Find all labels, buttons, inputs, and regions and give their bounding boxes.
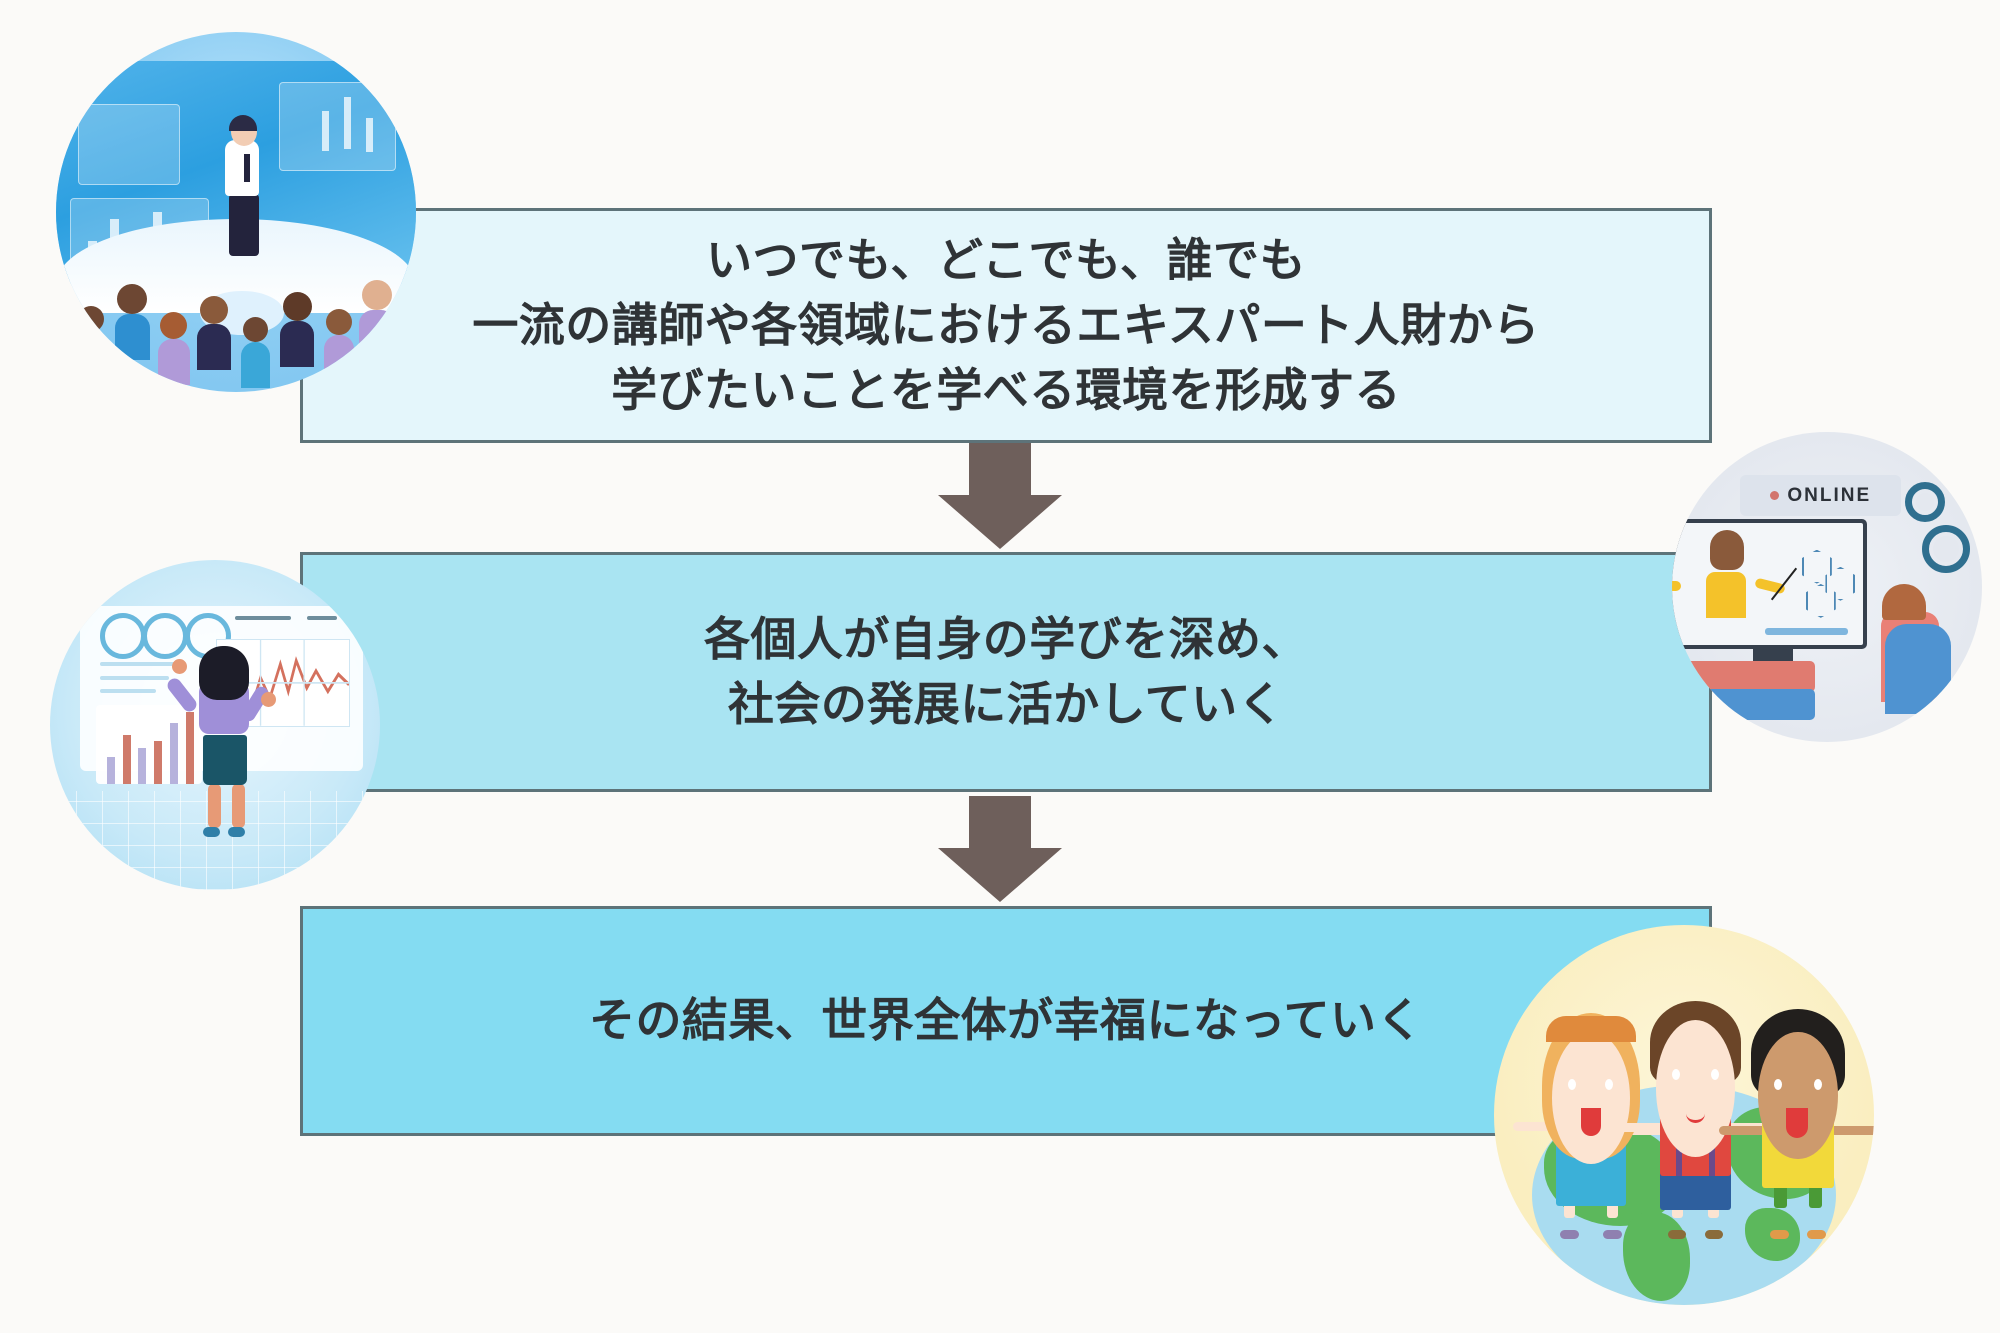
arrow-shaft [969, 796, 1031, 848]
audience-head [117, 284, 147, 314]
arrow-head [938, 848, 1062, 902]
lecture-panel-right [279, 82, 396, 170]
arrow-head [938, 495, 1062, 549]
audience-member [160, 312, 187, 385]
student-body [1885, 624, 1951, 714]
speaker-legs [229, 194, 259, 256]
audience-head [243, 317, 268, 342]
teacher-body [1706, 572, 1746, 618]
child-mouth [1581, 1108, 1602, 1136]
child-shoe [1668, 1230, 1686, 1239]
dashboard-bar [154, 741, 162, 785]
teacher-arm-left [1672, 581, 1681, 591]
dashboard-woman-shoe [228, 827, 245, 837]
child-shoe [1560, 1230, 1579, 1239]
audience-head [200, 296, 228, 324]
monitor-stand [1753, 649, 1793, 661]
dashboard-bar [186, 712, 194, 785]
gear-icon-large [1922, 525, 1970, 573]
audience-head [283, 292, 312, 321]
dashboard-text-line [235, 616, 291, 620]
audience-head [362, 280, 392, 310]
child-arm [1830, 1126, 1874, 1135]
child-eye [1814, 1079, 1822, 1090]
dashboard-woman-hand-left [172, 659, 187, 674]
audience-body [75, 332, 106, 378]
child-shoe [1705, 1230, 1723, 1239]
book-stack-blue [1672, 689, 1815, 720]
audience-member [326, 309, 352, 381]
dashboard-text-line [100, 662, 183, 666]
lecture-panel-left [78, 104, 181, 185]
lecturer-presenting-illustration [56, 32, 416, 392]
audience-member [78, 306, 104, 378]
audience-body [158, 339, 190, 385]
child-mouth [1786, 1108, 1808, 1139]
dashboard-woman-leg [208, 784, 221, 828]
child-head [1656, 1020, 1735, 1156]
dashboard-text-line [100, 689, 156, 693]
dashboard-bar-chart [96, 705, 202, 784]
audience-member [362, 280, 392, 356]
dashboard-bar [107, 757, 115, 784]
children-on-globe-illustration [1494, 925, 1874, 1305]
child-headband [1546, 1016, 1636, 1042]
child-arm [1719, 1126, 1766, 1135]
child-shoe [1807, 1230, 1826, 1239]
child-boy-yellow [1749, 1009, 1848, 1245]
audience-head [78, 306, 104, 332]
lecture-bar [322, 111, 329, 151]
audience-body [280, 321, 314, 367]
screen-caption-bar [1765, 628, 1848, 635]
arrow-shaft [969, 443, 1031, 495]
child-mouth [1686, 1098, 1706, 1123]
flow-step-box-1: いつでも、どこでも、誰でも 一流の講師や各領域におけるエキスパート人財から 学び… [300, 208, 1712, 443]
dashboard-woman-skirt [203, 735, 247, 785]
dashboard-ring-chart [142, 613, 188, 659]
audience-body [115, 314, 150, 360]
speaker-tie [244, 154, 250, 182]
flow-step-box-2: 各個人が自身の学びを深め、 社会の発展に活かしていく [300, 552, 1712, 792]
child-head [1758, 1032, 1837, 1159]
diagram-canvas: いつでも、どこでも、誰でも 一流の講師や各領域におけるエキスパート人財から 学び… [0, 0, 2000, 1333]
book-stack-red [1672, 661, 1815, 692]
student-hair [1882, 584, 1926, 620]
down-arrow-icon-2 [938, 796, 1062, 902]
audience-body [324, 335, 355, 381]
child-head [1552, 1032, 1630, 1164]
audience-member [200, 296, 228, 370]
monitor-screen [1672, 523, 1863, 645]
flow-step-3-text: その結果、世界全体が幸福になっていく [589, 988, 1423, 1053]
audience-head [326, 309, 352, 335]
audience-member [283, 292, 312, 367]
teacher-hair [1710, 530, 1744, 570]
lecture-bar [344, 97, 351, 149]
child-boy-red [1646, 1001, 1745, 1244]
online-status-dot-icon [1770, 491, 1779, 500]
audience-member [243, 317, 268, 388]
monitor [1672, 519, 1867, 649]
child-arm [1618, 1123, 1663, 1132]
online-badge-label: ONLINE [1787, 485, 1871, 507]
speaker-body [225, 140, 259, 196]
audience-body [197, 324, 230, 370]
dashboard-woman-leg [232, 784, 245, 828]
child-eye [1672, 1069, 1680, 1080]
dashboard-bar [123, 735, 131, 784]
child-shoe [1603, 1230, 1622, 1239]
data-dashboard-woman-illustration [50, 560, 380, 890]
dashboard-text-line [307, 616, 337, 620]
dashboard-text-line [100, 676, 169, 680]
dashboard-woman-hair [199, 646, 249, 700]
audience-body [359, 310, 394, 356]
down-arrow-icon-1 [938, 443, 1062, 549]
online-badge: ONLINE [1740, 475, 1901, 515]
gear-icon-small [1905, 482, 1945, 522]
lecture-bar [366, 118, 373, 152]
audience-member [117, 284, 147, 360]
flow-step-1-text: いつでも、どこでも、誰でも 一流の講師や各領域におけるエキスパート人財から 学び… [472, 228, 1539, 424]
audience-body [241, 342, 271, 388]
dashboard-bar [170, 723, 178, 785]
dashboard-woman-shoe [203, 827, 220, 837]
dashboard-ring-chart [100, 613, 146, 659]
dashboard-bar [138, 748, 146, 784]
audience-head [160, 312, 187, 339]
flow-step-2-text: 各個人が自身の学びを深め、 社会の発展に活かしていく [704, 607, 1308, 738]
online-lesson-illustration: ONLINE [1672, 432, 1982, 742]
child-shoe [1770, 1230, 1789, 1239]
